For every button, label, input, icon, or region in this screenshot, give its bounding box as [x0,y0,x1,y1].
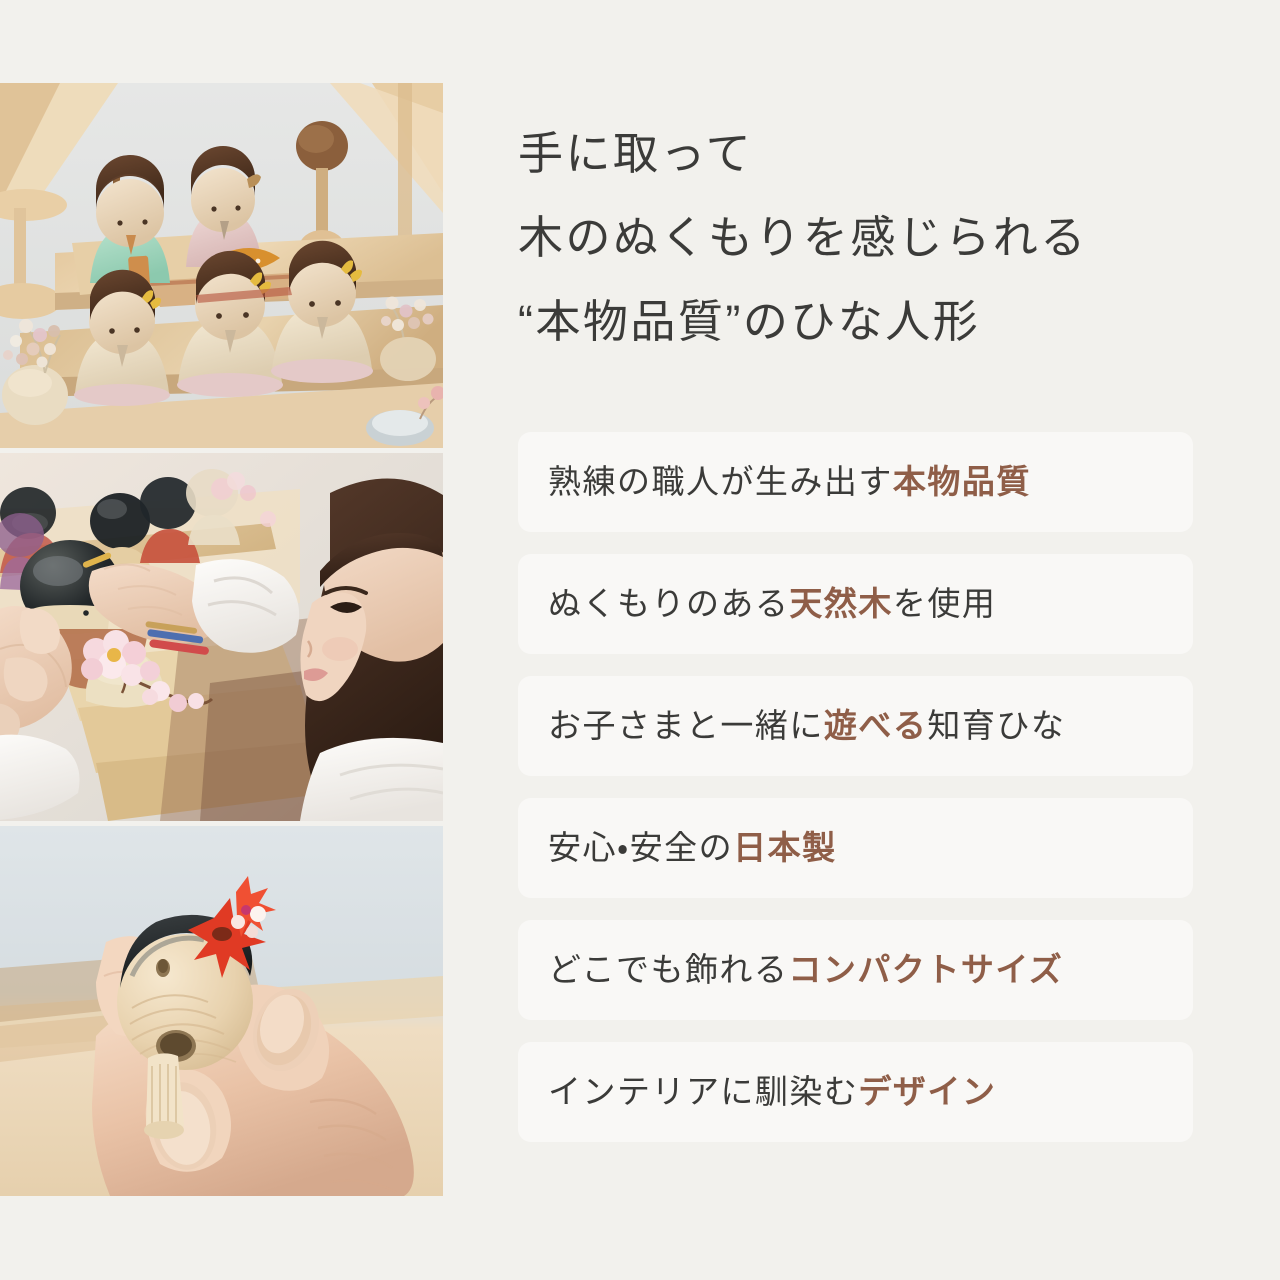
feature-text: 安心・安全の日本製 [548,828,837,868]
photo-child-playing-with-hina-dolls [0,453,443,821]
feature-card: インテリアに馴染むデザイン [518,1042,1193,1142]
feature-text: お子さまと一緒に遊べる知育ひな [548,706,1065,746]
feature-text-plain: お子さまと一緒に [548,707,824,744]
photo-column [0,83,443,1196]
photo-hand-holding-wooden-doll-head [0,826,443,1196]
headline-line-2: 木のぬくもりを感じられる [518,196,1193,280]
feature-text-plain: を使用 [893,585,996,622]
feature-text-plain: ぬくもりのある [548,585,789,622]
feature-text-plain: 熟練の職人が生み出す [548,463,893,500]
feature-text-plain: 知育ひな [927,707,1065,744]
feature-text-plain: インテリアに馴染む [548,1073,858,1110]
feature-card: お子さまと一緒に遊べる知育ひな [518,676,1193,776]
feature-text-accent: 天然木 [789,585,892,622]
photo-hina-dolls-on-wooden-display-stand [0,83,443,448]
feature-text-plain: 安心・安全の [548,829,733,866]
feature-text-accent: コンパクトサイズ [788,951,1063,988]
feature-text-plain: どこでも飾れる [548,951,788,988]
feature-text-accent: 日本製 [733,829,836,866]
feature-list: 熟練の職人が生み出す本物品質 ぬくもりのある天然木を使用 お子さまと一緒に遊べる… [518,432,1193,1142]
feature-text-accent: 遊べる [824,707,927,744]
headline-line-3: “本物品質”のひな人形 [518,280,1193,364]
headline-line-1: 手に取って [518,112,1193,196]
feature-card: 熟練の職人が生み出す本物品質 [518,432,1193,532]
feature-text-accent: 本物品質 [893,463,1031,500]
feature-text: どこでも飾れるコンパクトサイズ [548,950,1063,990]
feature-card: ぬくもりのある天然木を使用 [518,554,1193,654]
feature-text: インテリアに馴染むデザイン [548,1072,996,1112]
page-title: 手に取って 木のぬくもりを感じられる “本物品質”のひな人形 [518,112,1193,364]
feature-text: 熟練の職人が生み出す本物品質 [548,462,1031,502]
feature-text-accent: デザイン [858,1073,996,1110]
feature-card: どこでも飾れるコンパクトサイズ [518,920,1193,1020]
content-column: 手に取って 木のぬくもりを感じられる “本物品質”のひな人形 熟練の職人が生み出… [518,0,1193,1280]
feature-text: ぬくもりのある天然木を使用 [548,584,996,624]
promo-page: 手に取って 木のぬくもりを感じられる “本物品質”のひな人形 熟練の職人が生み出… [0,0,1280,1280]
feature-card: 安心・安全の日本製 [518,798,1193,898]
